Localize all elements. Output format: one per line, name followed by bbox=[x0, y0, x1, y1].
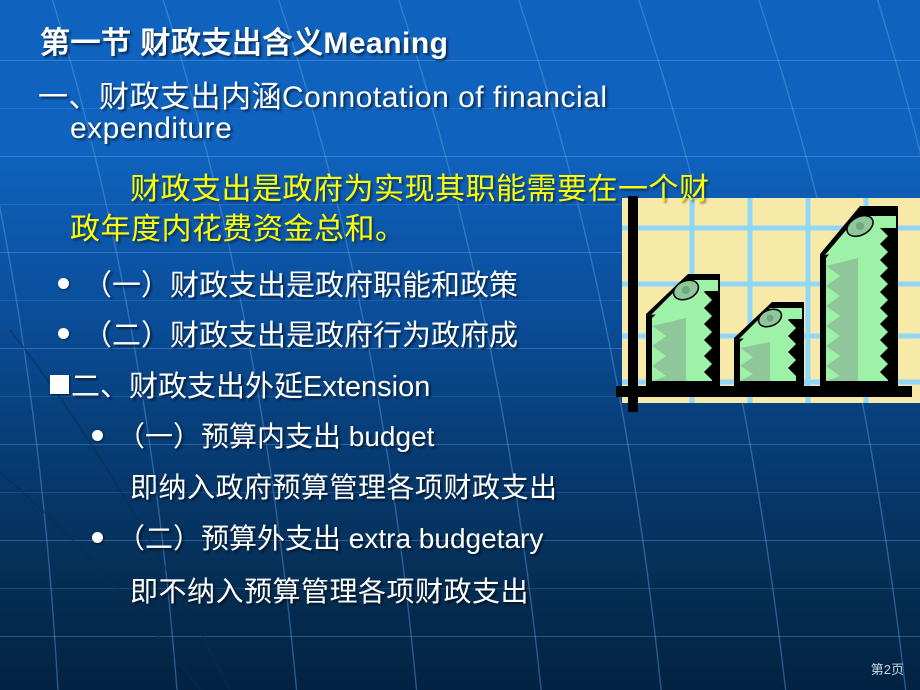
list-item-label: （二）财政支出是政府行为政府成 bbox=[83, 312, 518, 354]
bullet-disc-icon bbox=[92, 532, 103, 543]
bullet-disc-icon bbox=[92, 430, 103, 441]
money-bar-chart-clipart bbox=[608, 196, 920, 412]
list-item: （一）预算内支出 budget bbox=[92, 415, 434, 455]
page-title: 第一节 财政支出含义Meaning bbox=[40, 18, 449, 62]
subheading-line-2: expenditure bbox=[70, 112, 232, 146]
highlight-paragraph-line-2: 政年度内花费资金总和。 bbox=[70, 204, 406, 248]
highlight-paragraph-line-1: 财政支出是政府为实现其职能需要在一个财 bbox=[130, 164, 710, 208]
bullet-disc-icon bbox=[58, 278, 69, 289]
subheading-line-1: 一、财政支出内涵Connotation of financial bbox=[38, 72, 608, 116]
list-item-label: 二、财政支出外延Extension bbox=[71, 363, 430, 405]
page-number: 第2页 bbox=[871, 659, 904, 678]
list-item: （一）财政支出是政府职能和政策 bbox=[58, 262, 518, 304]
sub-paragraph-1: 即纳入政府预算管理各项财政支出 bbox=[130, 466, 558, 506]
bullet-disc-icon bbox=[58, 328, 69, 339]
slide-canvas: 第一节 财政支出含义Meaning 一、财政支出内涵Connotation of… bbox=[0, 0, 920, 690]
bar-chart-illustration bbox=[608, 196, 920, 412]
list-item-label: （二）预算外支出 extra budgetary bbox=[117, 517, 543, 557]
sub-paragraph-2: 即不纳入预算管理各项财政支出 bbox=[130, 570, 529, 610]
list-item: 二、财政支出外延Extension bbox=[50, 363, 430, 405]
list-item-label: （一）财政支出是政府职能和政策 bbox=[83, 262, 518, 304]
list-item: （二）预算外支出 extra budgetary bbox=[92, 517, 543, 557]
bullet-square-icon bbox=[50, 375, 69, 394]
list-item: （二）财政支出是政府行为政府成 bbox=[58, 312, 518, 354]
list-item-label: （一）预算内支出 budget bbox=[117, 415, 434, 455]
